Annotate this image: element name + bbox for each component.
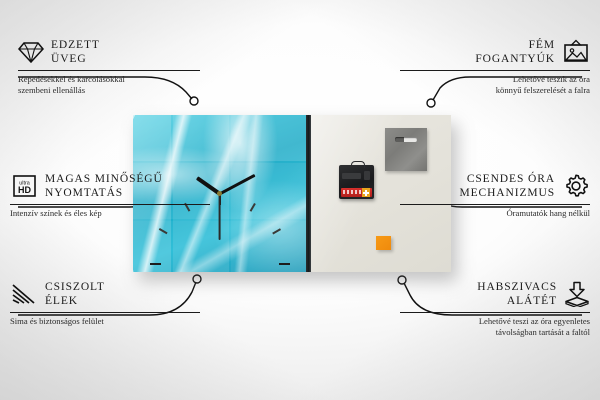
feature-silent-clock-mechanism: CSENDES ÓRA MECHANIZMUS Óramutatók hang …	[390, 172, 590, 219]
feature-header: ultra HD MAGAS MINŐSÉGŰ NYOMTATÁS	[10, 172, 225, 201]
feature-description: Lehetővé teszik az óra könnyű felszerelé…	[390, 74, 590, 97]
feature-header: CSISZOLT ÉLEK	[10, 280, 210, 309]
orange-foam-pad	[376, 236, 391, 250]
feature-title: CSISZOLT ÉLEK	[45, 280, 105, 309]
feature-title-line1: HABSZIVACS	[477, 280, 557, 294]
feature-title: FÉM FOGANTYÚK	[475, 38, 555, 67]
foam-pad-icon	[564, 281, 590, 307]
feature-description: Sima és biztonságos felület	[10, 316, 210, 328]
feature-title-line2: ALÁTÉT	[477, 294, 557, 308]
feature-title-line1: CSISZOLT	[45, 280, 105, 294]
feature-metal-handles: FÉM FOGANTYÚK Lehetővé teszik az óra kön…	[390, 38, 590, 97]
movement-detail-bar	[342, 173, 361, 179]
feature-title-line2: FOGANTYÚK	[475, 52, 555, 66]
feature-description: Óramutatók hang nélkül	[390, 208, 590, 220]
battery-plus-terminal	[362, 188, 370, 197]
feature-title: MAGAS MINŐSÉGŰ NYOMTATÁS	[45, 172, 163, 201]
feature-underline	[400, 204, 590, 205]
picture-hanger-icon	[562, 39, 590, 65]
clock-movement	[339, 165, 374, 199]
feature-underline	[10, 204, 210, 205]
hour-marker-1	[249, 202, 255, 211]
hour-marker-3	[279, 263, 290, 265]
feature-title-line1: FÉM	[475, 38, 555, 52]
gear-icon	[562, 173, 590, 199]
infographic-canvas: EDZETT ÜVEG Repedésekkel és karcolásokka…	[0, 0, 600, 400]
feature-underline	[10, 312, 200, 313]
connector-node-metal-handles	[427, 99, 435, 107]
hour-marker-2	[272, 228, 281, 234]
feature-title-line2: ÉLEK	[45, 294, 105, 308]
feature-title-line2: ÜVEG	[51, 52, 100, 66]
feature-underline	[18, 70, 200, 71]
metal-hanger-plate	[385, 128, 427, 171]
hour-marker-9	[150, 263, 161, 265]
feature-header: FÉM FOGANTYÚK	[390, 38, 590, 67]
movement-hanging-loop	[351, 161, 365, 168]
feature-underline	[400, 70, 590, 71]
feature-title: EDZETT ÜVEG	[51, 38, 100, 67]
feature-title-line2: NYOMTATÁS	[45, 186, 163, 200]
feature-header: CSENDES ÓRA MECHANIZMUS	[390, 172, 590, 201]
feature-title-line2: MECHANIZMUS	[459, 186, 555, 200]
hour-marker-10	[158, 228, 167, 234]
feature-high-quality-print: ultra HD MAGAS MINŐSÉGŰ NYOMTATÁS Intenz…	[10, 172, 225, 219]
feature-description: Lehetővé teszi az óra egyenletes távolsá…	[390, 316, 590, 339]
feature-title-line1: MAGAS MINŐSÉGŰ	[45, 172, 163, 186]
feature-polished-edges: CSISZOLT ÉLEK Sima és biztonságos felüle…	[10, 280, 210, 327]
ultra-hd-icon: ultra HD	[10, 173, 38, 199]
feature-title: CSENDES ÓRA MECHANIZMUS	[459, 172, 555, 201]
feature-description: Intenzív színek és éles kép	[10, 208, 225, 220]
hanger-slot	[395, 137, 417, 142]
polished-edge-icon	[10, 282, 38, 306]
feature-title-line1: EDZETT	[51, 38, 100, 52]
movement-detail-block	[364, 171, 370, 180]
battery	[341, 188, 372, 197]
feature-description: Repedésekkel és karcolásokkal szembeni e…	[18, 74, 218, 97]
connector-node-tempered-glass	[190, 97, 198, 105]
feature-tempered-glass: EDZETT ÜVEG Repedésekkel és karcolásokka…	[18, 38, 218, 97]
feature-title-line1: CSENDES ÓRA	[459, 172, 555, 186]
diamond-icon	[18, 40, 44, 64]
feature-foam-backing: HABSZIVACS ALÁTÉT Lehetővé teszi az óra …	[390, 280, 590, 339]
feature-header: EDZETT ÜVEG	[18, 38, 218, 67]
feature-title: HABSZIVACS ALÁTÉT	[477, 280, 557, 309]
feature-underline	[400, 312, 590, 313]
feature-header: HABSZIVACS ALÁTÉT	[390, 280, 590, 309]
battery-label	[343, 190, 361, 194]
svg-text:HD: HD	[18, 185, 31, 195]
